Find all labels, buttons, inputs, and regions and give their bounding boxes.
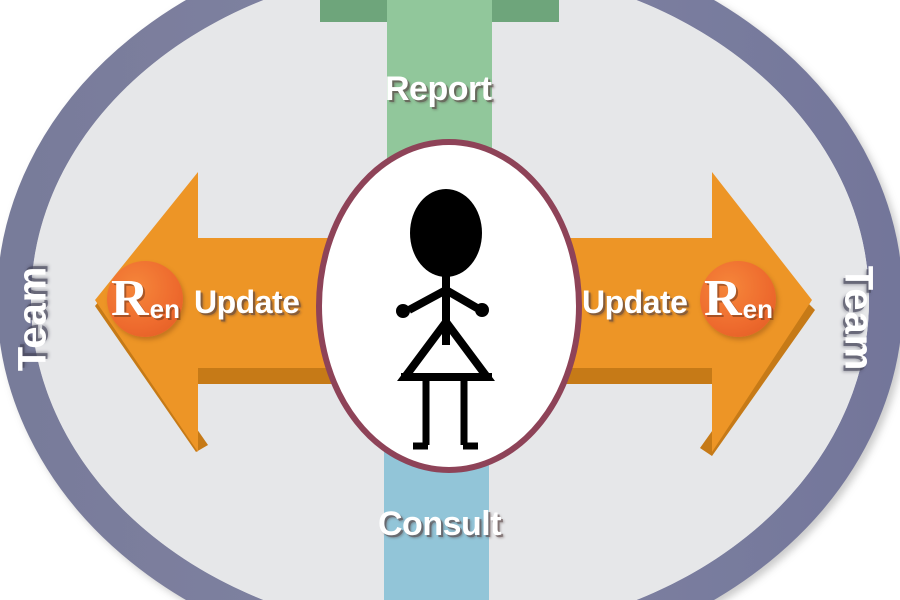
diagram-canvas: Ren Ren Report Consult Update Update Tea… [0,0,900,600]
ren-badge-right[interactable]: Ren [700,261,776,337]
ren-badge-left-text: Ren [107,261,183,337]
ren-badge-left-suffix: en [150,296,180,322]
label-update-right: Update [582,284,687,321]
ren-badge-right-letter: R [704,273,742,325]
label-team-left: Team [10,266,55,372]
ren-badge-right-text: Ren [700,261,776,337]
label-update-left: Update [194,284,299,321]
ren-badge-right-suffix: en [743,296,773,322]
label-report: Report [385,70,492,109]
label-team-right: Team [835,266,880,372]
ren-badge-left[interactable]: Ren [107,261,183,337]
label-consult: Consult [378,505,501,544]
ren-badge-left-letter: R [111,273,149,325]
